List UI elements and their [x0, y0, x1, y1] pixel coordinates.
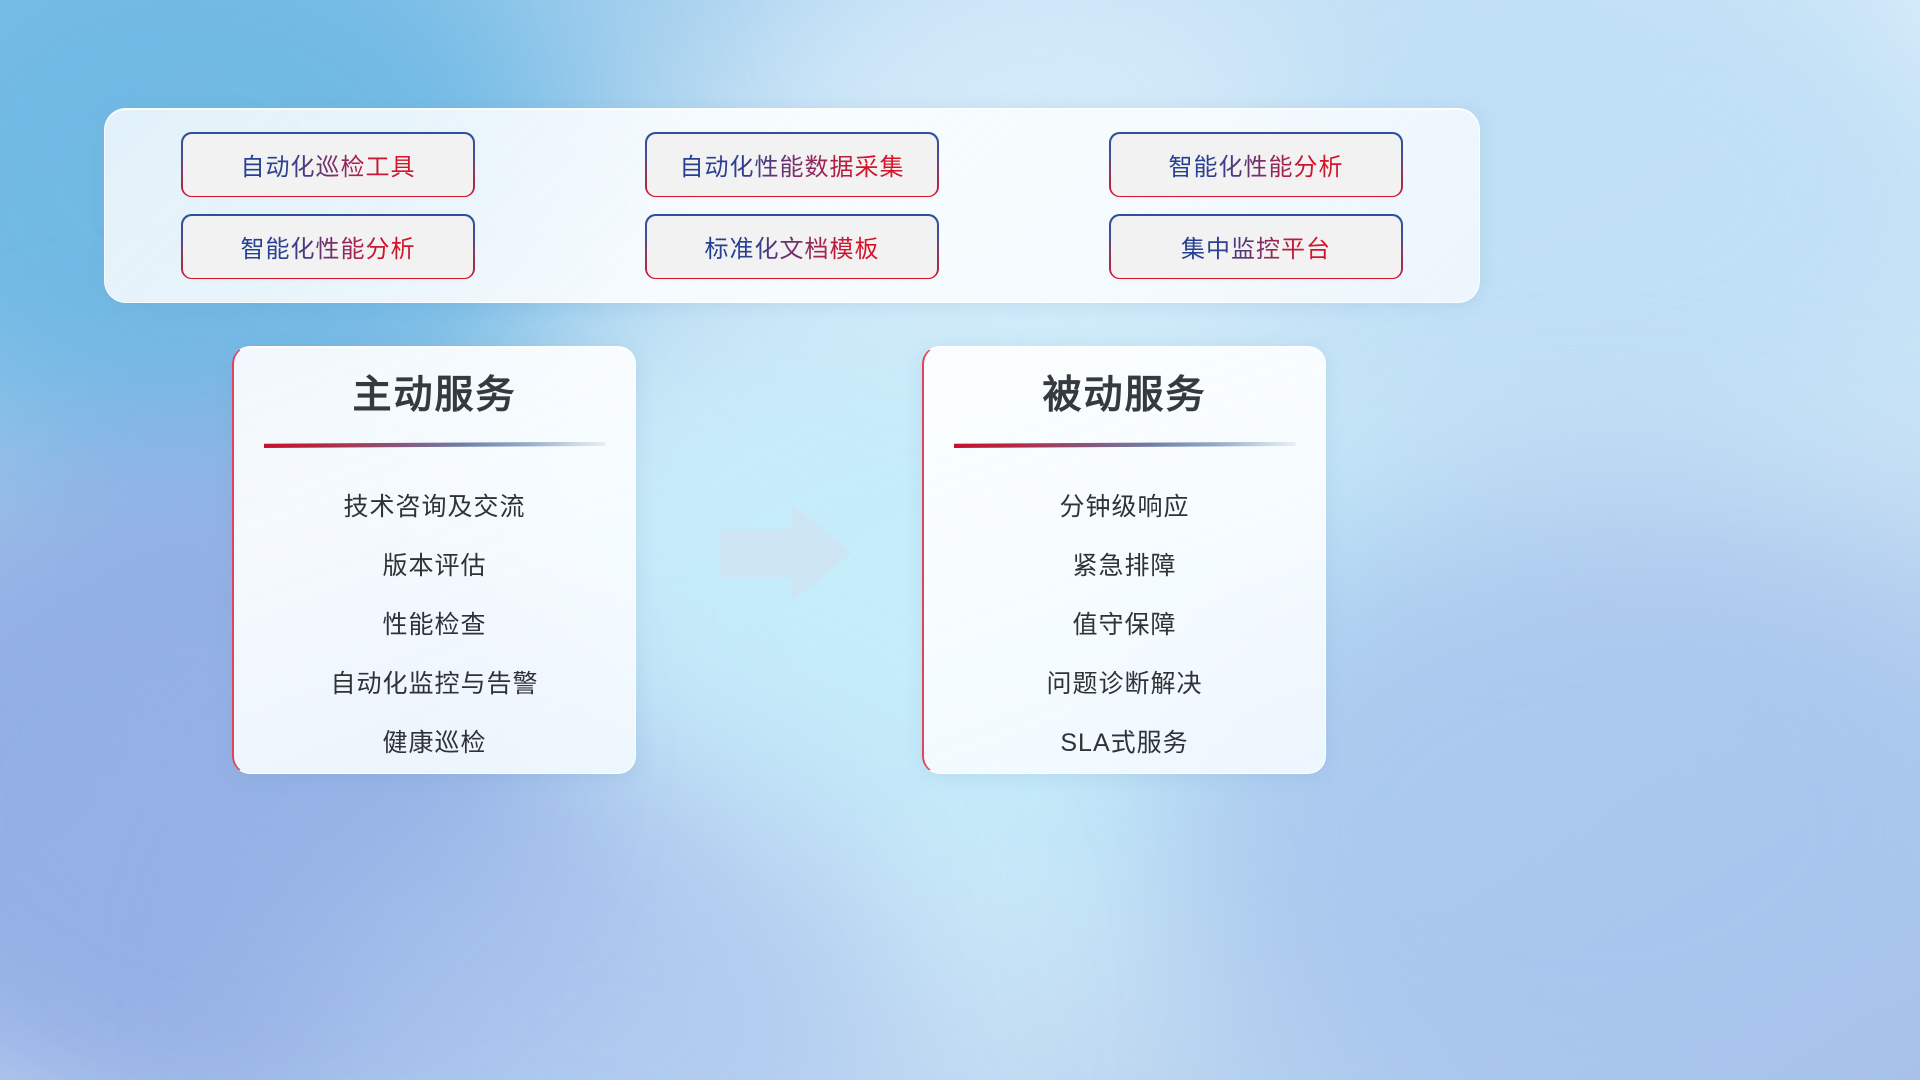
list-item[interactable]: 分钟级响应: [1059, 478, 1189, 537]
list-item[interactable]: 问题诊断解决: [1046, 655, 1202, 714]
capability-chip-standard-doc-template[interactable]: 标准化文档模板: [647, 216, 937, 278]
card-item-list: 技术咨询及交流 版本评估 性能检查 自动化监控与告警 健康巡检: [234, 478, 635, 773]
list-item[interactable]: 版本评估: [382, 537, 486, 596]
capability-chip-intelligent-performance-analysis[interactable]: 智能化性能分析: [1111, 134, 1401, 196]
capability-chip-label: 自动化巡检工具: [241, 147, 416, 182]
list-item[interactable]: 值守保障: [1072, 596, 1176, 655]
capability-chip-automated-performance-collection[interactable]: 自动化性能数据采集: [647, 134, 937, 196]
card-divider: [264, 442, 606, 448]
list-item[interactable]: 紧急排障: [1072, 537, 1176, 596]
arrow-right-icon: [716, 498, 856, 608]
card-title: 被动服务: [1042, 371, 1206, 422]
capability-chip-label: 自动化性能数据采集: [680, 147, 905, 182]
capability-chip-label: 标准化文档模板: [705, 229, 880, 264]
card-item-list: 分钟级响应 紧急排障 值守保障 问题诊断解决 SLA式服务: [924, 478, 1325, 773]
list-item[interactable]: 性能检查: [382, 596, 486, 655]
capability-chip-automated-inspection-tool[interactable]: 自动化巡检工具: [183, 134, 473, 196]
list-item[interactable]: 技术咨询及交流: [343, 478, 525, 537]
capability-chip-centralized-monitoring-platform[interactable]: 集中监控平台: [1111, 216, 1401, 278]
list-item[interactable]: 自动化监控与告警: [330, 655, 538, 714]
card-title: 主动服务: [352, 371, 516, 422]
service-card-active: 主动服务 技术咨询及交流 版本评估 性能检查 自动化监控与告警 健康巡检: [232, 346, 636, 774]
card-divider: [954, 442, 1296, 448]
capability-row-1: 自动化巡检工具 自动化性能数据采集 智能化性能分析: [183, 134, 1401, 196]
capability-row-2: 智能化性能分析 标准化文档模板 集中监控平台: [183, 216, 1401, 278]
capability-chip-intelligent-performance-analysis-2[interactable]: 智能化性能分析: [183, 216, 473, 278]
capability-panel: 自动化巡检工具 自动化性能数据采集 智能化性能分析 智能化性能分析 标准化文档模…: [104, 108, 1480, 303]
service-card-passive: 被动服务 分钟级响应 紧急排障 值守保障 问题诊断解决 SLA式服务: [922, 346, 1326, 774]
list-item[interactable]: SLA式服务: [1060, 714, 1188, 773]
capability-chip-label: 智能化性能分析: [241, 229, 416, 264]
capability-chip-label: 智能化性能分析: [1169, 147, 1344, 182]
capability-chip-label: 集中监控平台: [1181, 229, 1331, 264]
list-item[interactable]: 健康巡检: [382, 714, 486, 773]
